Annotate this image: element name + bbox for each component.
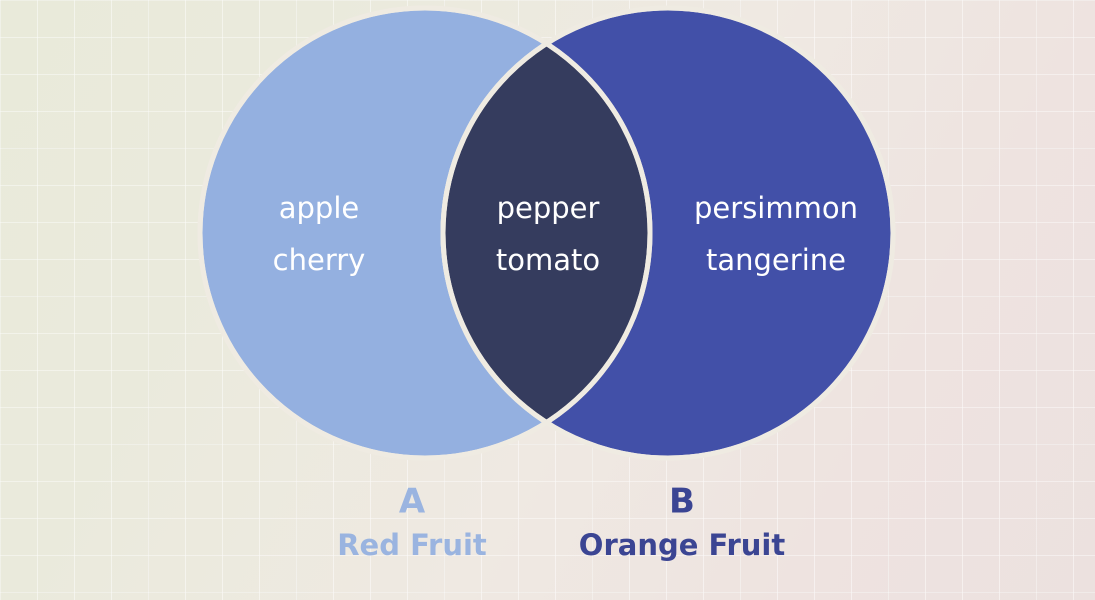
venn-item-center-2: tomato [496, 243, 600, 277]
legend-caption-b: Orange Fruit [579, 528, 786, 562]
venn-item-left-1: apple [279, 191, 360, 225]
venn-item-center-1: pepper [497, 191, 600, 225]
legend-letter-a: A [399, 482, 426, 522]
venn-diagram-canvas: apple cherry pepper tomato persimmon tan… [0, 0, 1095, 600]
legend-letter-b: B [669, 482, 695, 522]
legend-caption-a: Red Fruit [337, 528, 487, 562]
venn-diagram: apple cherry pepper tomato persimmon tan… [0, 0, 1095, 600]
venn-item-right-2: tangerine [706, 243, 846, 277]
venn-item-left-2: cherry [273, 243, 366, 277]
venn-item-right-1: persimmon [694, 191, 858, 225]
